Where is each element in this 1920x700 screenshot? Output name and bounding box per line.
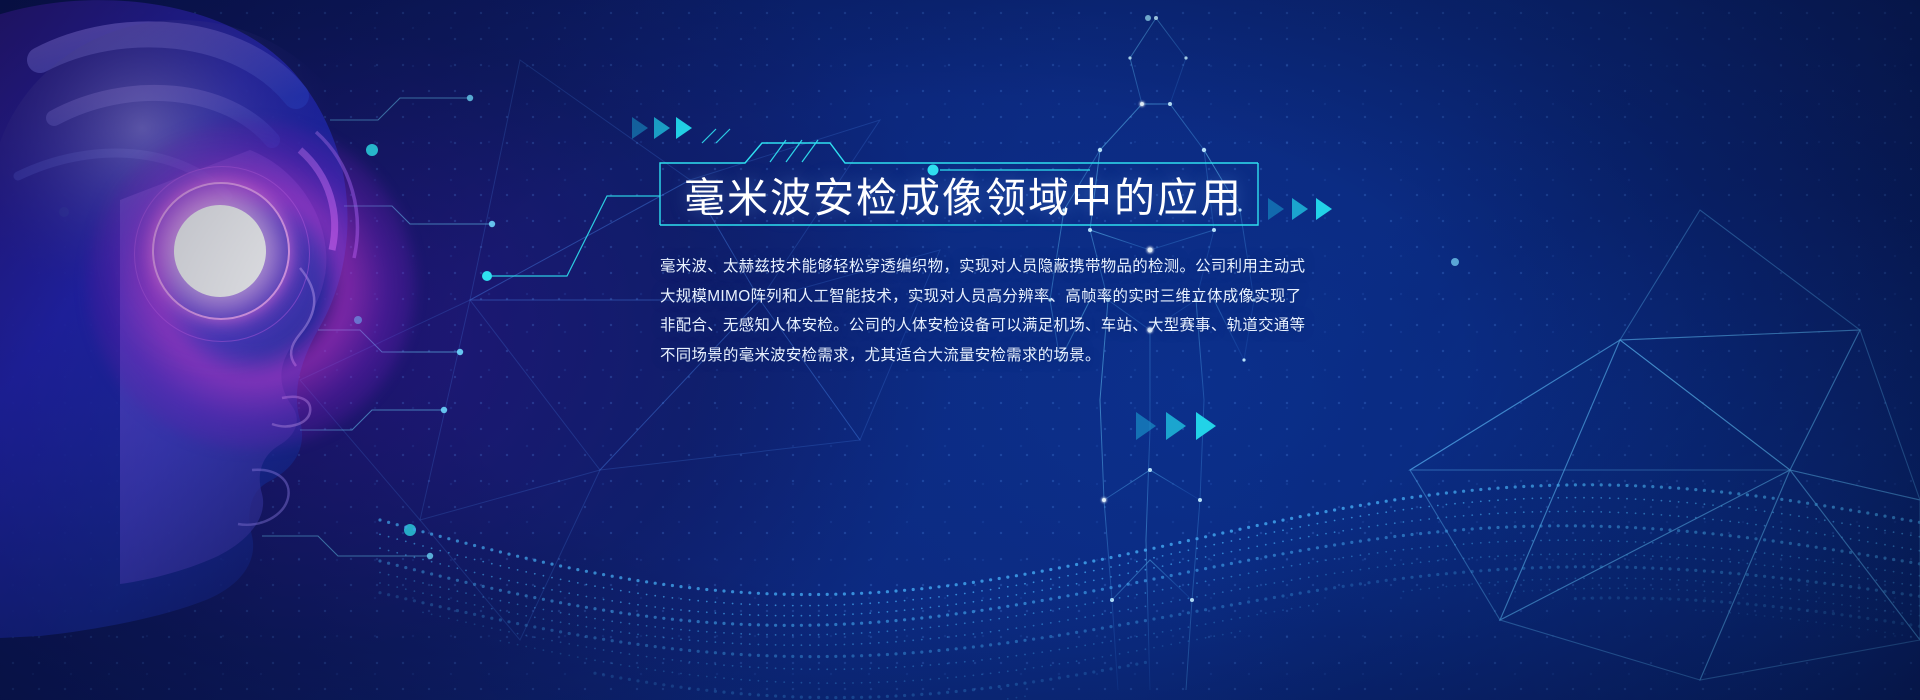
- hero-banner: 毫米波安检成像领域中的应用 毫米波、太赫兹技术能够轻松穿透编织物，实现对人员隐蔽…: [0, 0, 1920, 700]
- paragraph-line: 毫米波、太赫兹技术能够轻松穿透编织物，实现对人员隐蔽携带物品的检测。公司利用主动…: [660, 252, 1348, 282]
- paragraph-line: 非配合、无感知人体安检。公司的人体安检设备可以满足机场、车站、大型赛事、轨道交通…: [660, 311, 1348, 341]
- page-title: 毫米波安检成像领域中的应用: [684, 164, 1243, 224]
- paragraph-line: 大规模MIMO阵列和人工智能技术，实现对人员高分辨率、高帧率的实时三维立体成像实…: [660, 282, 1348, 312]
- paragraph-line: 不同场景的毫米波安检需求，尤其适合大流量安检需求的场景。: [660, 341, 1348, 371]
- description-paragraph: 毫米波、太赫兹技术能够轻松穿透编织物，实现对人员隐蔽携带物品的检测。公司利用主动…: [660, 252, 1348, 370]
